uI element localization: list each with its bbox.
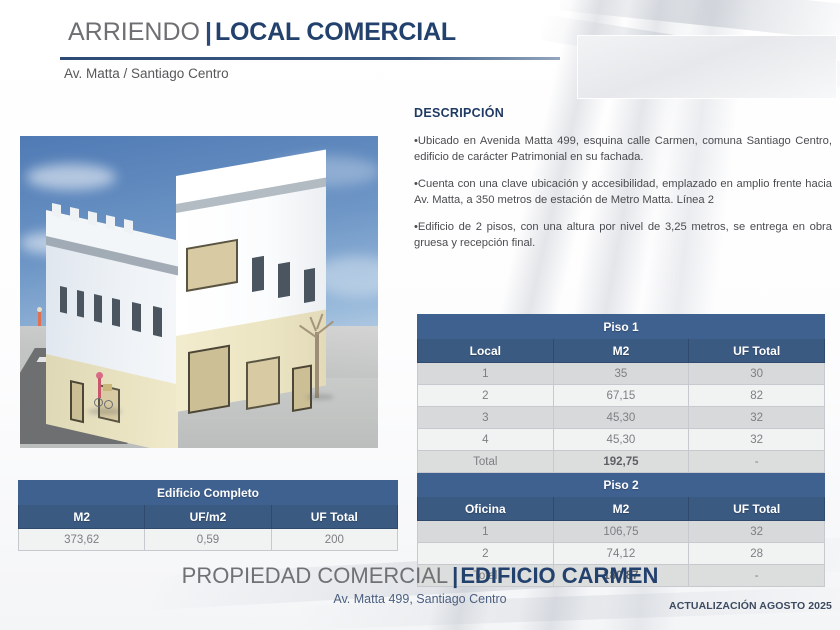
piso2-col-m2: M2 [553,497,689,521]
render-pedestrian-body [38,312,41,326]
render-side-door [292,364,312,412]
render-window [153,306,162,337]
render-merlon [106,215,115,230]
table-row-header-edificio: M2 UF/m2 UF Total [19,505,398,529]
edificio-title: Edificio Completo [19,481,398,505]
table-row-title-piso2: Piso 2 [418,473,825,497]
footer-update-date: ACTUALIZACIÓN AGOSTO 2025 [669,600,832,612]
table-row: 2 67,15 82 [418,385,825,407]
render-window [278,262,290,298]
piso1-col-m2: M2 [553,339,689,363]
cell-m2: 67,15 [553,385,689,407]
table-row-header-piso2: Oficina M2 UF Total [418,497,825,521]
cell-ufm2: 0,59 [145,529,271,551]
render-tree-trunk [315,332,319,398]
cell-uftotal: 30 [689,363,825,385]
piso2-col-uftotal: UF Total [689,497,825,521]
cell-m2: 35 [553,363,689,385]
cell-total-uftotal: - [689,451,825,473]
description-paragraph-1: •Ubicado en Avenida Matta 499, esquina c… [414,134,832,165]
render-cyclist-bag [103,384,112,391]
render-window [112,298,120,327]
footer-title-right: EDIFICIO CARMEN [460,563,658,588]
piso2-title: Piso 2 [418,473,825,497]
table-row: 373,62 0,59 200 [19,529,398,551]
render-main-entrance [188,345,230,414]
piso1-col-uftotal: UF Total [689,339,825,363]
page-title-left: ARRIENDO [68,18,200,46]
edificio-col-m2: M2 [19,505,145,529]
render-window [132,302,141,332]
render-merlon [124,219,133,234]
render-balcony-window [186,239,238,292]
footer-title-left: PROPIEDAD COMERCIAL [182,563,449,588]
render-window [304,268,315,303]
description-heading: DESCRIPCIÓN [414,106,832,120]
floors-table: Piso 1 Local M2 UF Total 1 35 30 2 67,15… [417,314,825,587]
page-title: ARRIENDO|LOCAL COMERCIAL [68,16,588,48]
footer-title: PROPIEDAD COMERCIAL|EDIFICIO CARMEN [0,562,840,590]
cell-m2: 106,75 [553,521,689,543]
cell-total-m2: 192,75 [553,451,689,473]
render-merlon [52,203,61,218]
render-window [77,290,84,318]
render-cloud [26,164,116,190]
table-row: 1 35 30 [418,363,825,385]
render-shadow [88,408,122,415]
cell-local: 3 [418,407,554,429]
piso2-col-oficina: Oficina [418,497,554,521]
page-subtitle: Av. Matta / Santiago Centro [64,66,229,81]
logo-placeholder [578,36,836,98]
piso1-title: Piso 1 [418,315,825,339]
render-cyclist-body [98,378,101,398]
table-row-title-piso1: Piso 1 [418,315,825,339]
cell-total-label: Total [418,451,554,473]
cell-m2: 45,30 [553,429,689,451]
render-window [94,294,102,323]
render-window [60,286,67,314]
table-row: 3 45,30 32 [418,407,825,429]
render-door [70,380,84,423]
header-divider-rule [60,57,560,60]
render-window [252,256,264,292]
footer-title-divider: | [452,563,458,588]
cell-local: 4 [418,429,554,451]
table-row: 1 106,75 32 [418,521,825,543]
page-title-right: LOCAL COMERCIAL [215,18,456,46]
building-render-image [20,136,378,448]
render-shadow [306,394,334,400]
description-section: DESCRIPCIÓN •Ubicado en Avenida Matta 49… [414,106,832,263]
cell-m2: 45,30 [553,407,689,429]
cell-uftotal: 82 [689,385,825,407]
edificio-col-ufm2: UF/m2 [145,505,271,529]
piso1-col-local: Local [418,339,554,363]
whole-building-table: Edificio Completo M2 UF/m2 UF Total 373,… [18,480,398,551]
cell-uftotal: 32 [689,521,825,543]
cell-uftotal: 32 [689,429,825,451]
render-shop-window [246,356,280,410]
cell-uftotal: 32 [689,407,825,429]
cell-m2: 373,62 [19,529,145,551]
table-row-total-piso1: Total 192,75 - [418,451,825,473]
render-merlon [88,211,97,226]
page-title-divider: | [205,18,212,46]
cell-oficina: 1 [418,521,554,543]
edificio-col-uftotal: UF Total [271,505,397,529]
render-bicycle-wheel [94,398,103,407]
render-merlon [70,207,79,222]
cell-uftotal: 200 [271,529,397,551]
cell-local: 1 [418,363,554,385]
table-row-title-edificio: Edificio Completo [19,481,398,505]
table-row: 4 45,30 32 [418,429,825,451]
table-row-header-piso1: Local M2 UF Total [418,339,825,363]
description-paragraph-2: •Cuenta con una clave ubicación y accesi… [414,177,832,208]
description-paragraph-3: •Edificio de 2 pisos, con una altura por… [414,220,832,251]
page-footer: PROPIEDAD COMERCIAL|EDIFICIO CARMEN Av. … [0,562,840,606]
page-header: ARRIENDO|LOCAL COMERCIAL [68,16,588,48]
cell-local: 2 [418,385,554,407]
